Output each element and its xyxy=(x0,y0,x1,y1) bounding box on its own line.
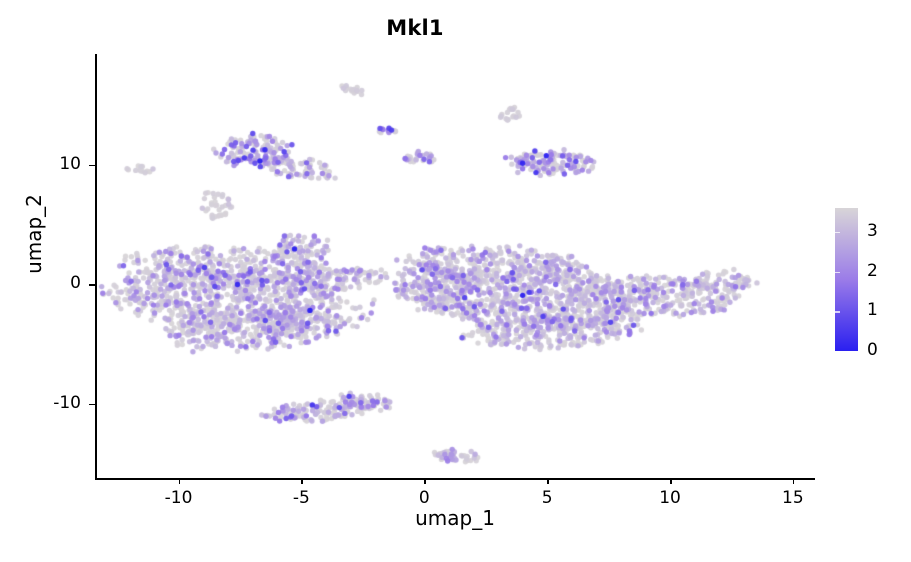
x-tick xyxy=(793,478,795,484)
plot-title: Mkl1 xyxy=(0,16,830,40)
colorbar-tick xyxy=(835,311,840,312)
colorbar-tick xyxy=(835,272,840,273)
x-tick-label: -10 xyxy=(149,488,209,508)
x-tick-label: -5 xyxy=(271,488,331,508)
x-tick-label: 15 xyxy=(763,488,823,508)
colorbar: 0123 xyxy=(835,208,858,351)
x-tick xyxy=(670,478,672,484)
x-axis-spine xyxy=(95,478,815,480)
x-tick-label: 0 xyxy=(394,488,454,508)
colorbar-tick-label: 3 xyxy=(867,221,878,241)
scatter-canvas xyxy=(95,54,815,480)
x-tick xyxy=(179,478,181,484)
y-tick xyxy=(89,404,95,406)
x-tick-label: 10 xyxy=(640,488,700,508)
x-tick xyxy=(547,478,549,484)
y-tick-label: -10 xyxy=(21,393,81,413)
umap-feature-plot: Mkl1 -10-5051015 -10010 umap_1 umap_2 01… xyxy=(0,0,911,562)
x-tick xyxy=(424,478,426,484)
x-axis-label: umap_1 xyxy=(95,506,815,530)
scatter-points xyxy=(95,54,815,480)
y-tick xyxy=(89,284,95,286)
colorbar-tick-label: 1 xyxy=(867,300,878,320)
y-axis-label: umap_2 xyxy=(22,114,46,354)
x-tick-label: 5 xyxy=(517,488,577,508)
colorbar-tick xyxy=(835,351,840,352)
colorbar-tick xyxy=(835,232,840,233)
y-tick xyxy=(89,165,95,167)
plot-area: -10-5051015 -10010 xyxy=(95,54,815,480)
colorbar-gradient xyxy=(835,208,858,351)
x-tick xyxy=(301,478,303,484)
colorbar-tick-label: 0 xyxy=(867,340,878,360)
y-axis-spine xyxy=(95,54,97,480)
colorbar-tick-label: 2 xyxy=(867,261,878,281)
